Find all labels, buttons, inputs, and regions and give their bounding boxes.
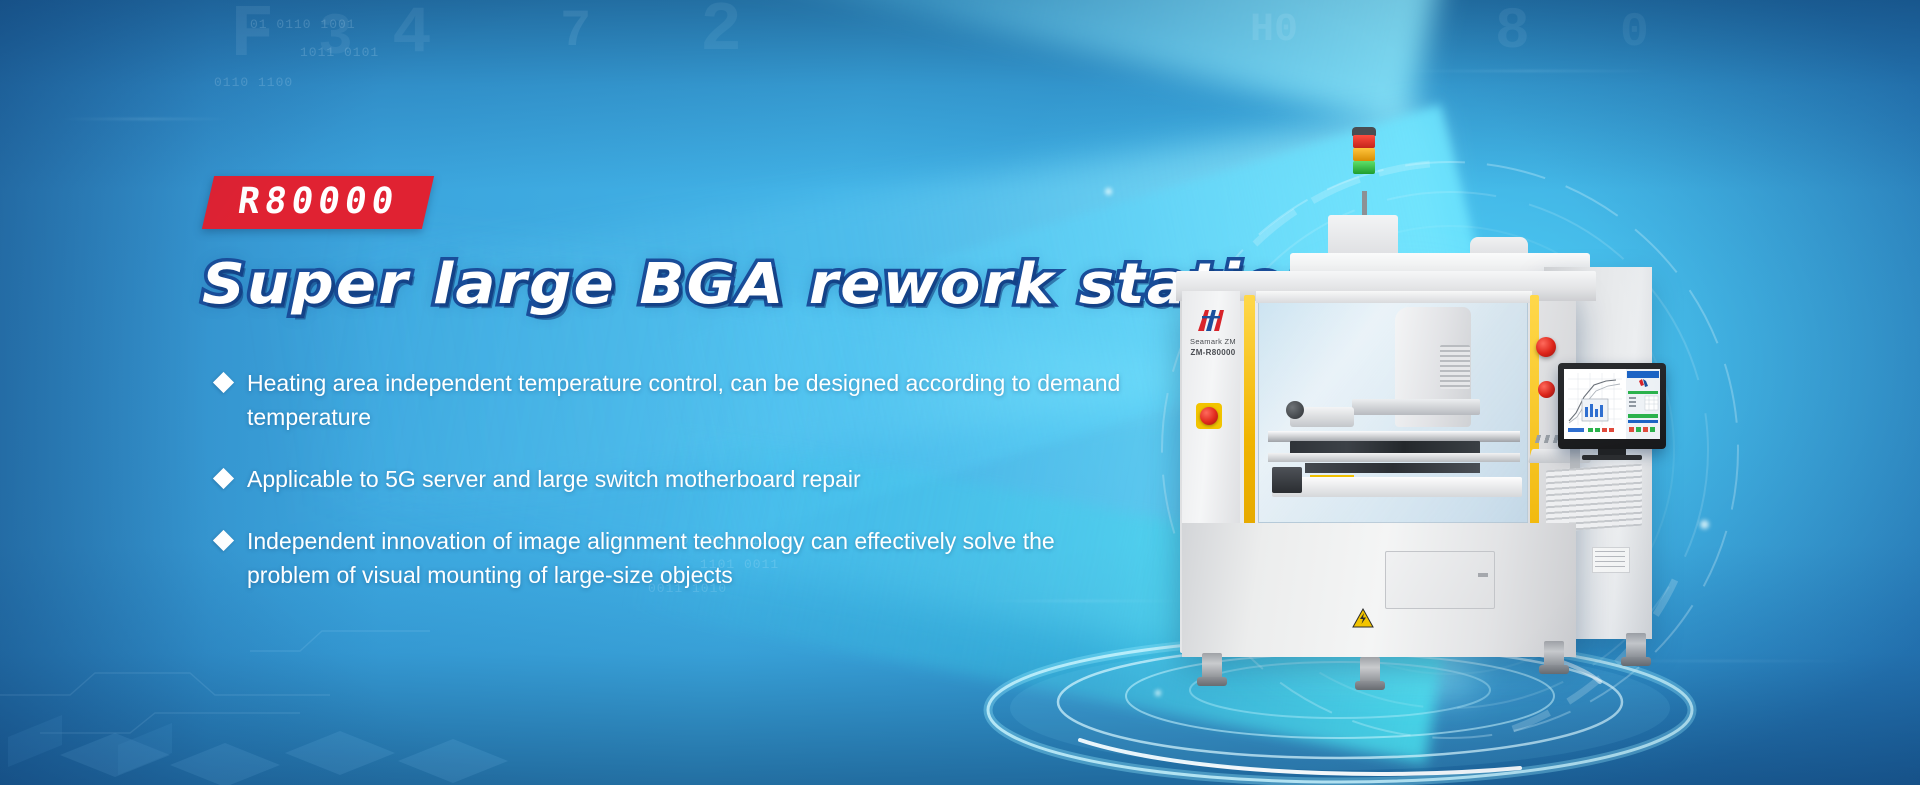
product-banner: F 3 4 7 2 H0 8 0 01 0110 1001 1011 0101 …: [0, 0, 1920, 785]
headline-word-1: Super: [202, 254, 410, 316]
machine-illustration: Seamark ZM ZM-R80000: [1140, 195, 1700, 695]
monitor-chart-pane: [1564, 369, 1626, 439]
machine-brand-name: Seamark ZM: [1184, 337, 1242, 346]
list-item: Applicable to 5G server and large switch…: [216, 462, 1146, 496]
feature-text: Applicable to 5G server and large switch…: [247, 462, 861, 496]
machine-foot-pad-far-right: [1621, 657, 1651, 666]
sparkle-1: [1105, 188, 1112, 195]
machine-foot-far-right: [1626, 633, 1646, 659]
machine-foot-pad-left: [1197, 677, 1227, 686]
machine-cross-bar: [1352, 399, 1480, 415]
diamond-bullet-icon: [213, 468, 234, 489]
background-streak-2: [1400, 70, 1660, 72]
diamond-bullet-icon: [213, 372, 234, 393]
emergency-stop-button-right-upper[interactable]: [1536, 337, 1556, 357]
list-item: Heating area independent temperature con…: [216, 366, 1146, 434]
machine-foot-pad-right: [1539, 665, 1569, 674]
temperature-profile-chart: [1564, 369, 1626, 439]
product-image: Seamark ZM ZM-R80000: [1140, 195, 1700, 755]
list-item: Independent innovation of image alignmen…: [216, 524, 1146, 592]
headline-word-4: rework: [809, 254, 1056, 316]
monitor-screen[interactable]: [1564, 369, 1660, 439]
machine-tray-block: [1272, 467, 1302, 493]
monitor-control-panel: [1626, 369, 1660, 439]
machine-side-label-lines: [1595, 551, 1625, 567]
model-badge: R80000: [202, 176, 434, 229]
tower-lamp-red: [1353, 135, 1375, 148]
machine-foot-center: [1360, 657, 1380, 683]
machine-window-frame: [1256, 291, 1532, 303]
feature-list: Heating area independent temperature con…: [216, 366, 1146, 592]
machine-lower-panel: [1182, 523, 1576, 657]
emergency-stop-button-right-lower[interactable]: [1538, 381, 1555, 398]
machine-pcb-board-secondary: [1305, 463, 1480, 473]
monitor-control-pane: [1626, 369, 1660, 439]
sparkle-2: [1700, 520, 1709, 529]
machine-work-tray: [1272, 477, 1522, 497]
feature-text: Independent innovation of image alignmen…: [247, 524, 1127, 592]
headline-word-2: large: [433, 254, 616, 316]
machine-rail-lower: [1268, 453, 1520, 462]
machine-alignment-camera-icon: [1286, 401, 1304, 419]
model-badge-label: R80000: [235, 182, 401, 222]
emergency-stop-button[interactable]: [1200, 407, 1218, 425]
machine-access-door[interactable]: [1385, 551, 1495, 609]
machine-foot-left: [1202, 653, 1222, 679]
tower-lamp-amber: [1353, 148, 1375, 161]
monitor-base: [1582, 455, 1642, 460]
banner-content: R80000 SuperlargeBGAreworkstation Heatin…: [208, 0, 1188, 785]
feature-text: Heating area independent temperature con…: [247, 366, 1127, 434]
machine-model-name: ZM-R80000: [1184, 348, 1242, 357]
seamark-logo-icon: [1194, 307, 1228, 333]
machine-door-handle[interactable]: [1478, 573, 1488, 577]
machine-foot-pad-center: [1355, 681, 1385, 690]
machine-heater-vent: [1440, 345, 1470, 389]
high-voltage-warning-icon: [1352, 607, 1374, 629]
machine-foot-right: [1544, 641, 1564, 667]
headline-word-3: BGA: [639, 254, 785, 316]
sparkle-3: [1155, 690, 1161, 696]
background-streak-1: [60, 118, 230, 120]
tower-lamp-green: [1353, 161, 1375, 174]
diamond-bullet-icon: [213, 530, 234, 551]
